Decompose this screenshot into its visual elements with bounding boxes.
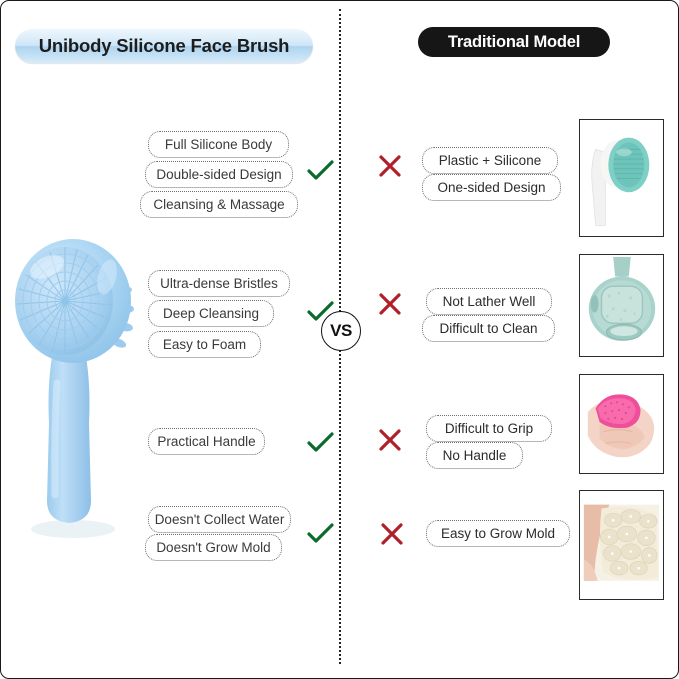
thumb-teal-bath-brush xyxy=(579,254,664,357)
left-feature-label: Practical Handle xyxy=(148,428,265,455)
right-feature-label: Plastic + Silicone xyxy=(422,147,558,174)
left-feature-label: Full Silicone Body xyxy=(148,131,289,158)
left-column-title: Unibody Silicone Face Brush xyxy=(15,29,313,63)
check-icon xyxy=(305,156,335,186)
cross-icon xyxy=(375,151,405,181)
vs-badge: VS xyxy=(321,311,361,351)
right-feature-label: Difficult to Clean xyxy=(422,315,555,342)
check-icon xyxy=(305,428,335,458)
left-feature-label: Double-sided Design xyxy=(145,161,293,188)
thumb-cream-loofah-puff xyxy=(579,490,664,600)
check-icon xyxy=(305,519,335,549)
comparison-infographic: Unibody Silicone Face Brush Traditional … xyxy=(0,0,679,679)
left-feature-label: Ultra-dense Bristles xyxy=(148,270,290,297)
right-feature-label: Difficult to Grip xyxy=(426,415,552,442)
left-feature-label: Deep Cleansing xyxy=(148,300,274,327)
right-feature-label: Easy to Grow Mold xyxy=(426,520,570,547)
left-feature-label: Easy to Foam xyxy=(148,331,261,358)
right-feature-label: One-sided Design xyxy=(422,174,561,201)
right-feature-label: No Handle xyxy=(426,442,523,469)
right-column-title: Traditional Model xyxy=(418,27,610,57)
right-feature-label: Not Lather Well xyxy=(426,288,552,315)
cross-icon xyxy=(375,425,405,455)
thumb-hand-holding-pink-pad xyxy=(579,374,664,474)
cross-icon xyxy=(377,519,407,549)
left-feature-label: Doesn't Collect Water xyxy=(148,506,291,533)
left-feature-label: Doesn't Grow Mold xyxy=(145,534,282,561)
cross-icon xyxy=(375,289,405,319)
thumb-white-teal-face-brush xyxy=(579,119,664,237)
blue-silicone-face-brush-image xyxy=(7,233,157,563)
left-feature-label: Cleansing & Massage xyxy=(140,191,298,218)
